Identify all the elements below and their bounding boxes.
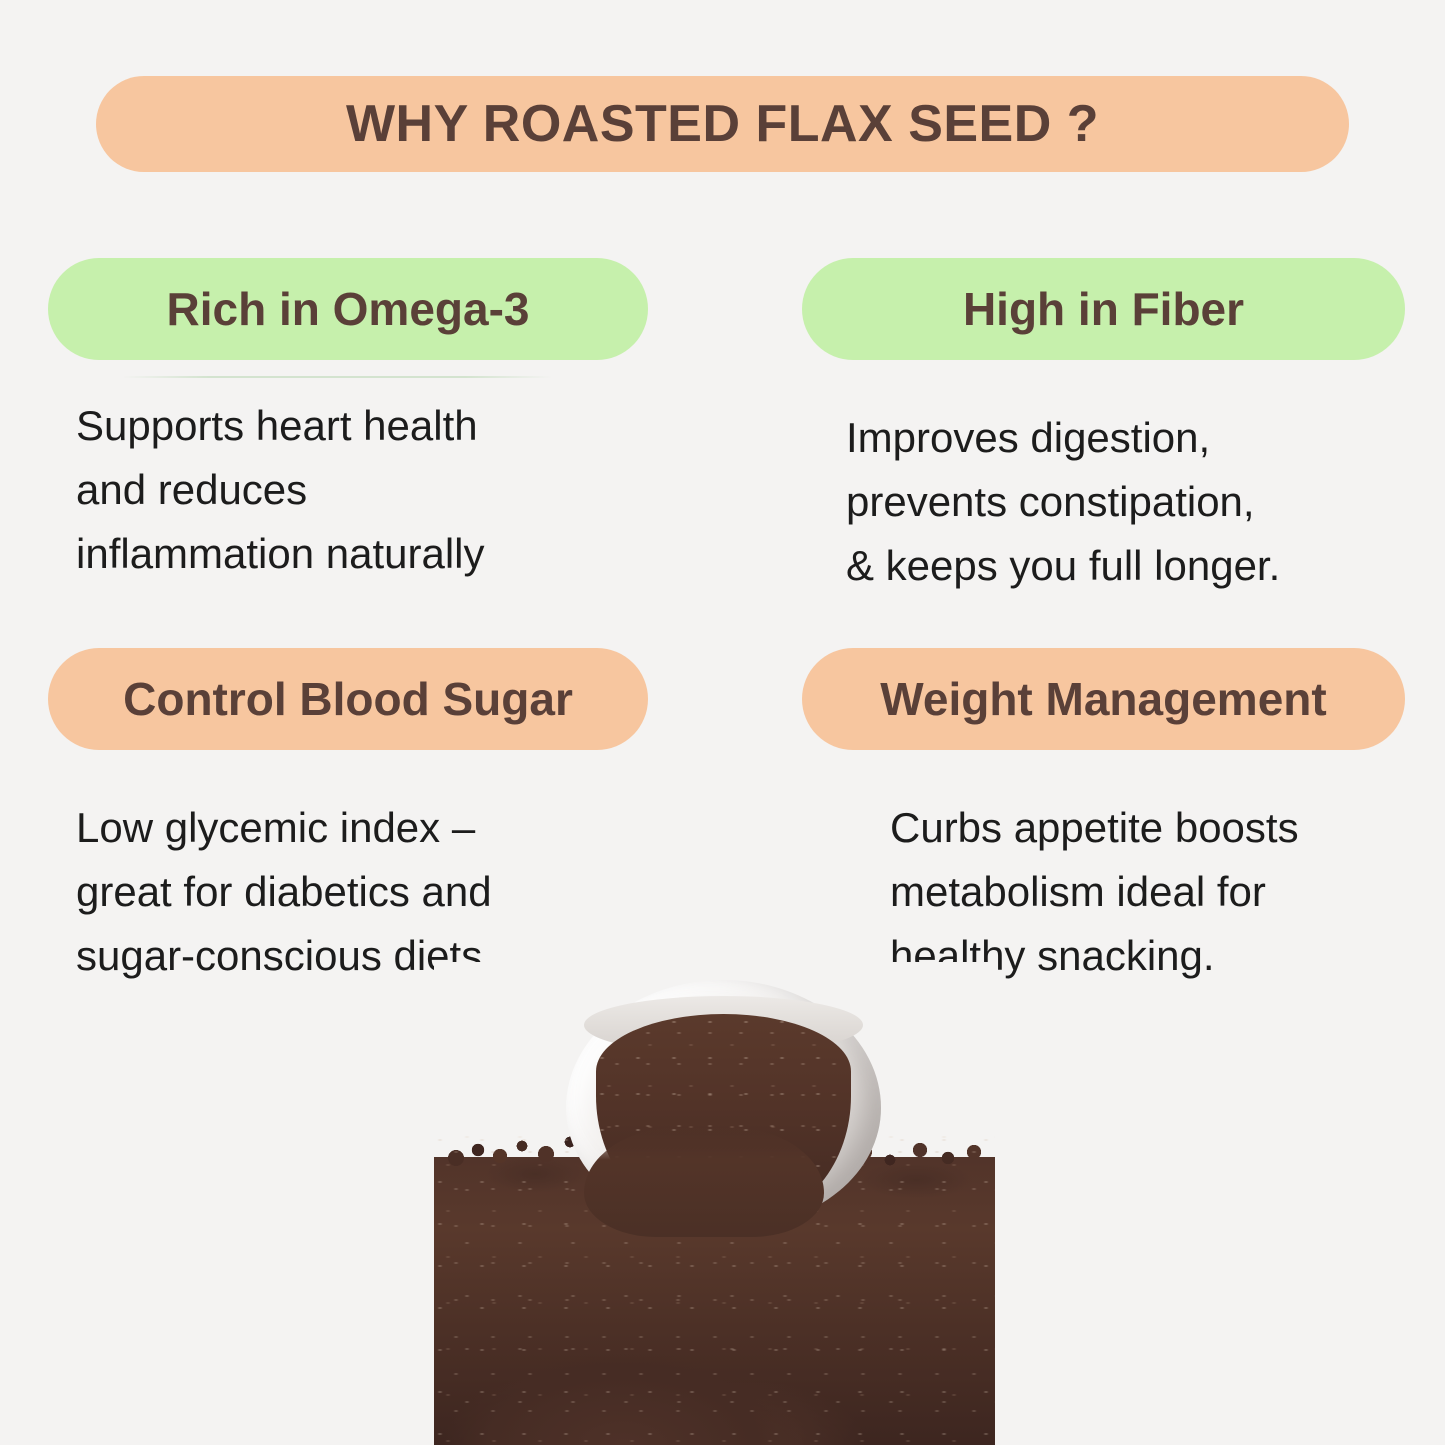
benefit-body-fiber: Improves digestion, prevents constipatio… [846,406,1405,597]
benefit-body-weight: Curbs appetite boosts metabolism ideal f… [890,796,1405,987]
benefit-pill-fiber: High in Fiber [802,258,1405,360]
benefit-body-blood-sugar: Low glycemic index – great for diabetics… [76,796,648,987]
benefit-title-fiber: High in Fiber [963,286,1244,332]
benefit-title-blood-sugar: Control Blood Sugar [123,676,573,722]
benefit-title-omega3: Rich in Omega-3 [167,286,530,332]
benefit-divider-omega3 [122,376,552,378]
seed-stream [584,1127,824,1237]
infographic-poster: WHY ROASTED FLAX SEED ? Rich in Omega-3 … [0,0,1445,1445]
title-banner: WHY ROASTED FLAX SEED ? [96,76,1349,172]
benefit-title-weight: Weight Management [880,676,1326,722]
benefit-pill-weight: Weight Management [802,648,1405,750]
flax-seed-product-photo [434,962,995,1445]
page-title: WHY ROASTED FLAX SEED ? [346,94,1099,154]
photo-inner [434,962,995,1445]
benefit-card-fiber: High in Fiber Improves digestion, preven… [802,258,1405,597]
benefit-card-omega3: Rich in Omega-3 Supports heart health an… [48,258,648,585]
benefit-card-blood-sugar: Control Blood Sugar Low glycemic index –… [48,648,648,987]
benefit-pill-blood-sugar: Control Blood Sugar [48,648,648,750]
benefit-body-omega3: Supports heart health and reduces inflam… [76,394,648,585]
benefit-card-weight: Weight Management Curbs appetite boosts … [802,648,1405,987]
benefit-pill-omega3: Rich in Omega-3 [48,258,648,360]
